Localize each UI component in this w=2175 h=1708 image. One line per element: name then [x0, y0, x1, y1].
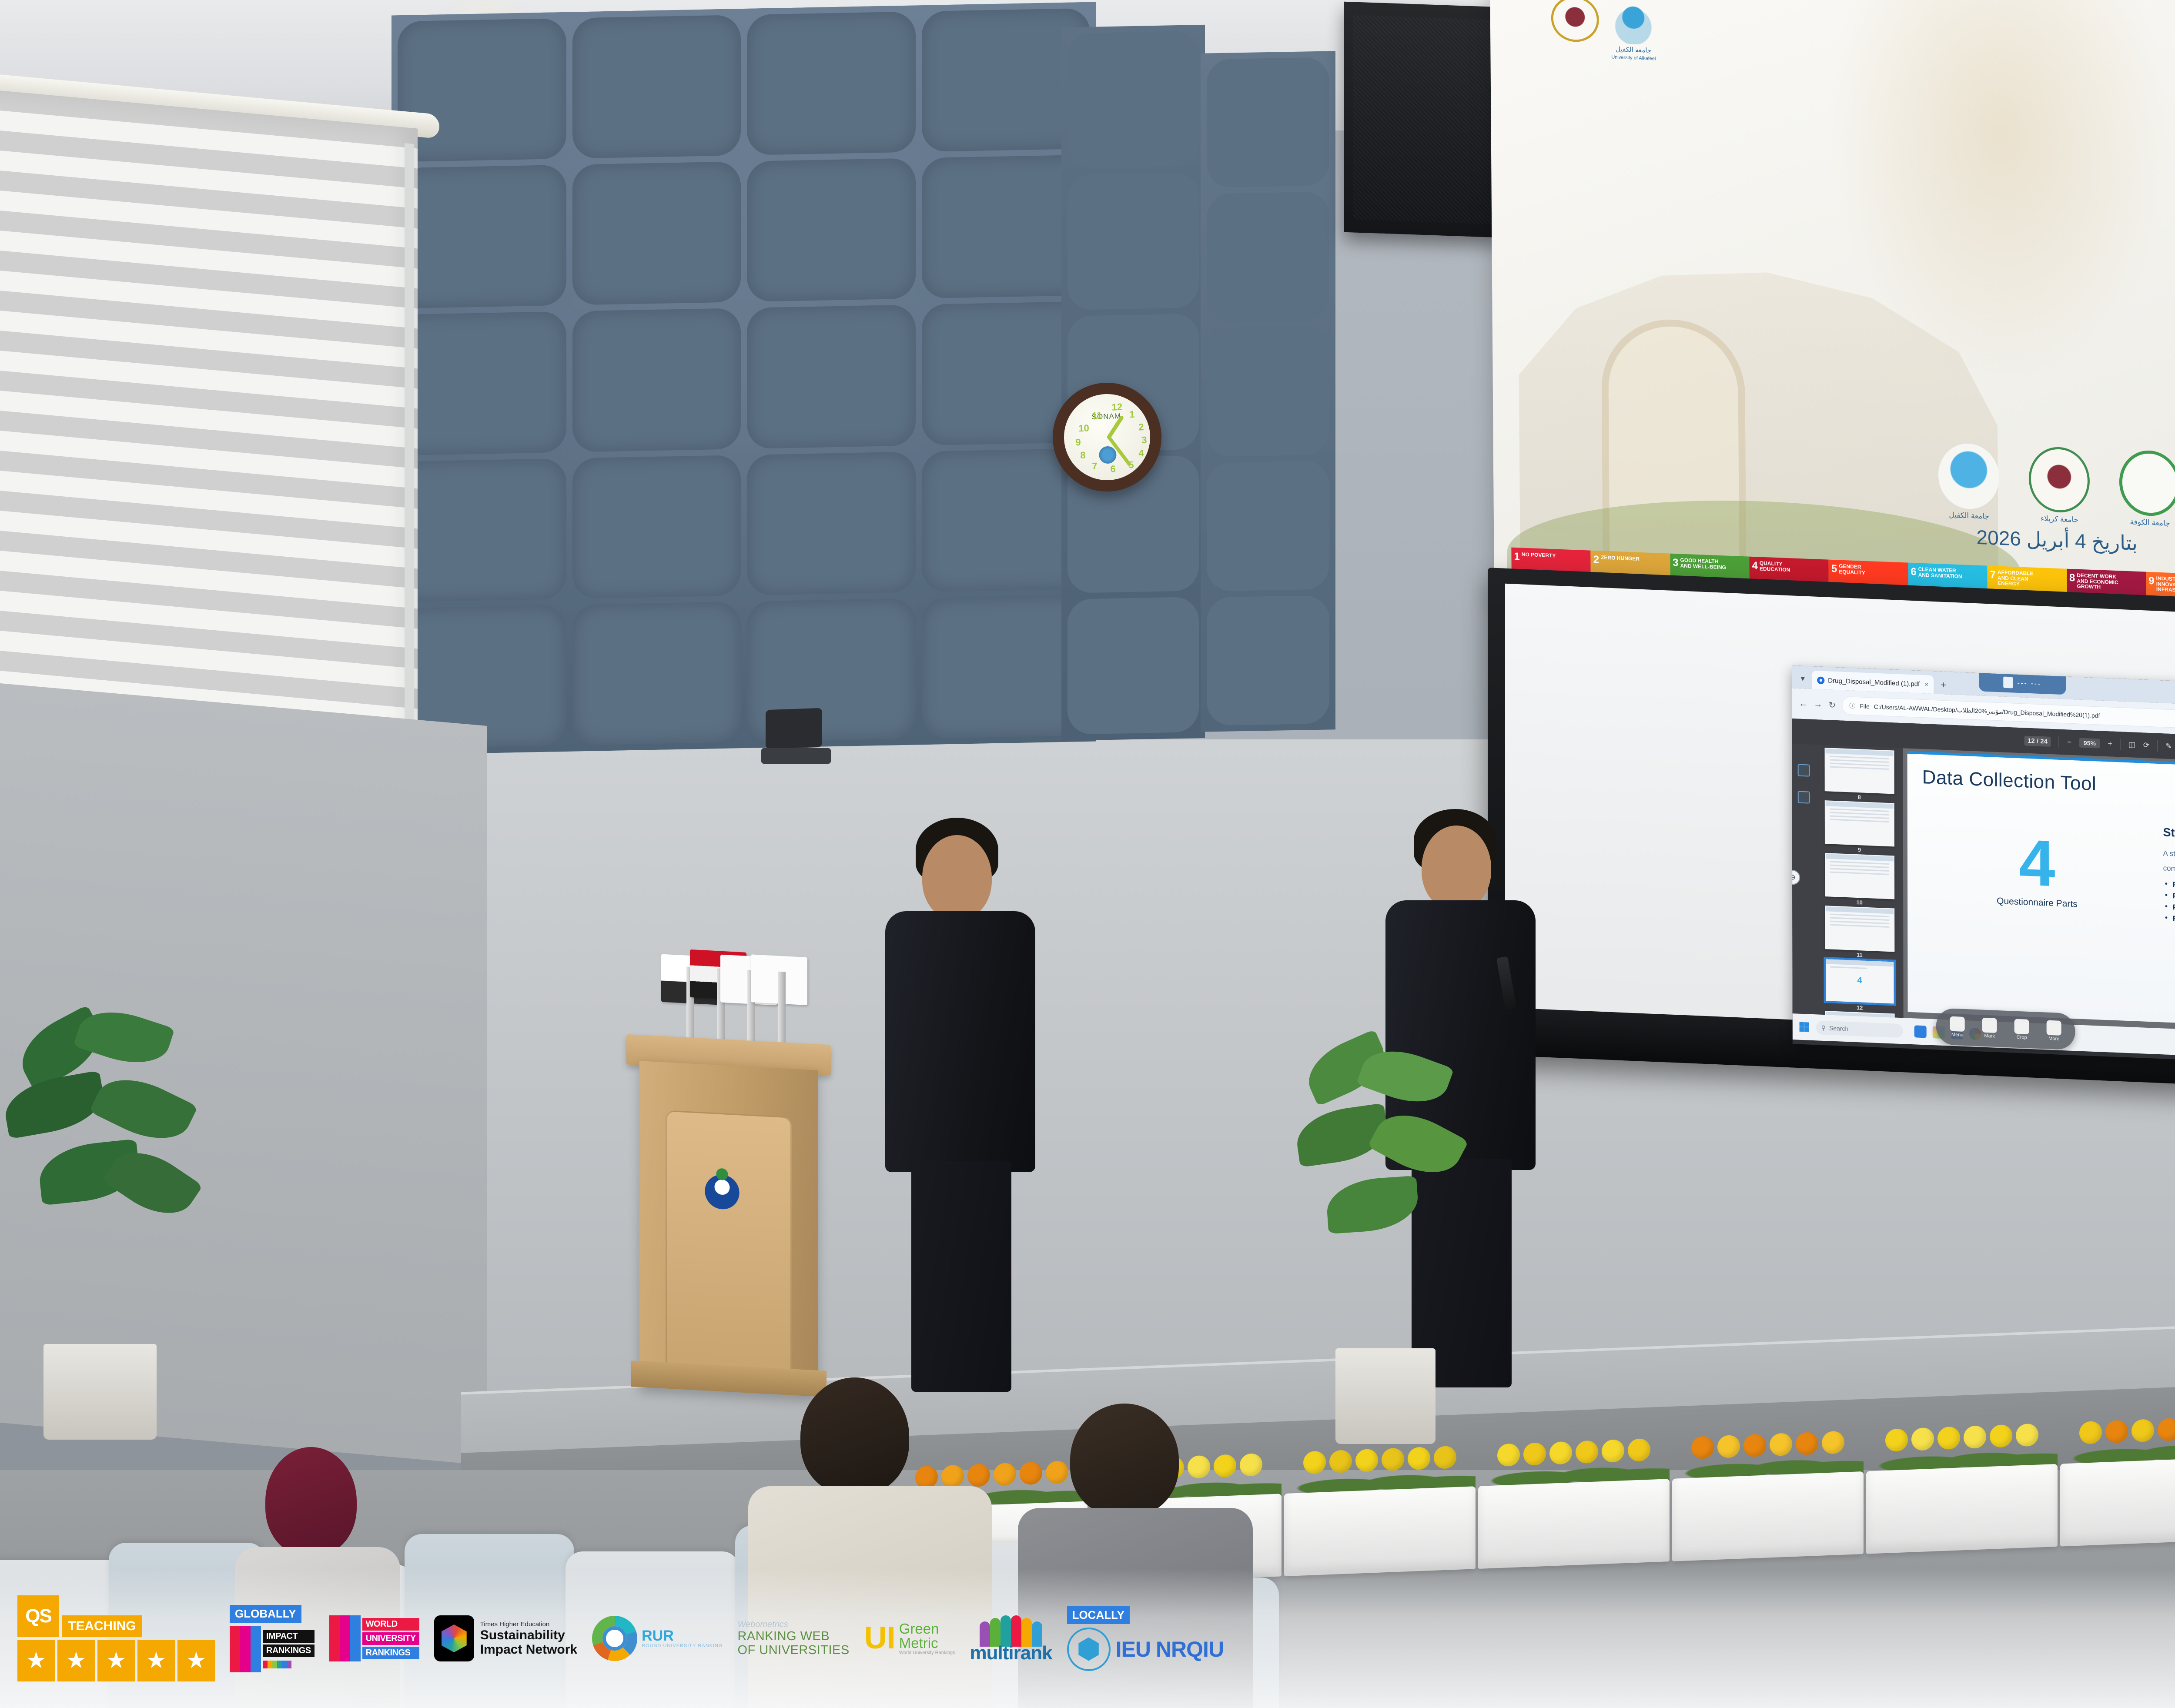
the-wordmark: [230, 1626, 261, 1672]
u-multirank-logo: multirank: [970, 1613, 1052, 1664]
pdf-thumbnail-9[interactable]: 9: [1816, 800, 1903, 856]
ui-wordmark: UI: [864, 1625, 896, 1651]
presenter-head: [1422, 826, 1491, 910]
device-icon: [2004, 677, 2013, 689]
partner-name: جامعة الكوفة: [2117, 517, 2175, 528]
greenmetric-wordmark: Green Metric World University Rankings: [899, 1621, 955, 1656]
windows-start-icon[interactable]: [1800, 1022, 1809, 1032]
qs-star-rating: ★★★★★: [17, 1640, 215, 1681]
slide-stat-column: 4 Questionnaire Parts: [1922, 813, 2152, 925]
search-icon: ⚲: [1821, 1024, 1826, 1031]
pdf-thumbnail-number: 9: [1858, 846, 1861, 853]
pdf-thumbnail-number: 11: [1857, 952, 1863, 959]
float-tool-more[interactable]: More: [2047, 1020, 2061, 1042]
slide-big-number: 4: [1922, 829, 2152, 897]
greenmetric-sub: World University Rankings: [899, 1651, 955, 1655]
rur-sub: ROUND UNIVERSITY RANKING: [642, 1643, 723, 1648]
qs-wordmark: QS: [25, 1605, 51, 1627]
rur-abbr: RUR: [642, 1628, 723, 1643]
the-impact-tags: IMPACT RANKINGS: [263, 1626, 315, 1672]
conference-hall-photo: SONAM 12 1 2 3 4 5 6 7 8 9 10 11: [0, 0, 2175, 1708]
presenter-at-lectern: [866, 818, 1053, 1392]
the-sustainability-impact-network-logo: Times Higher Education Sustainability Im…: [434, 1615, 577, 1661]
pdf-thumbnail-number: 8: [1858, 794, 1861, 800]
annotate-pen-icon[interactable]: ✎: [2165, 742, 2172, 751]
qs-star-icon: ★: [17, 1640, 55, 1681]
pdf-sidebar: 89101141213 ⊖: [1792, 744, 1904, 1018]
slide-columns: 4 Questionnaire Parts Structured Survey …: [1922, 813, 2175, 936]
new-tab-button[interactable]: +: [1936, 679, 1951, 691]
the-rainbow-strip: [263, 1661, 315, 1668]
the-tag: IMPACT: [263, 1630, 315, 1643]
acoustic-panel-column: [1201, 51, 1335, 732]
qs-teaching-label: TEACHING: [62, 1615, 142, 1637]
pdf-thumbnail-number: 10: [1856, 899, 1862, 906]
university-rankings-banner: QS TEACHING ★★★★★ GLOBALLY IMPACT RANKIN…: [0, 1569, 2175, 1708]
tool-icon: [2014, 1019, 2029, 1034]
rotate-icon[interactable]: ⟳: [2143, 741, 2149, 750]
pdf-thumbnail-12[interactable]: 412: [1816, 958, 1903, 1014]
slide-bullet-list: Part 1: Demographics and Information Sou…: [2163, 880, 2175, 933]
toolbar-divider: [2059, 736, 2059, 748]
tool-label: Crop: [2014, 1035, 2029, 1040]
rur-mark-icon: [592, 1616, 637, 1661]
tool-label: Mark: [1982, 1033, 1997, 1039]
ieu-nrqiu-group: LOCALLY IEU NRQIU: [1067, 1606, 1224, 1671]
qs-star-icon: ★: [97, 1640, 135, 1681]
rur-ranking-logo: RUR ROUND UNIVERSITY RANKING: [592, 1616, 723, 1661]
page-indicator[interactable]: 12 / 24: [2024, 735, 2051, 746]
clock-numeral: 1: [1129, 409, 1135, 420]
clock-university-logo: [1099, 446, 1117, 464]
float-tool-mark[interactable]: Mark: [1982, 1018, 1997, 1039]
pdf-thumbnail-image[interactable]: [1824, 748, 1894, 794]
this-wordmark: Times Higher Education Sustainability Im…: [480, 1621, 577, 1657]
alkafeel-logo-sublabel: University of Alkafeel: [1609, 54, 1657, 61]
ieu-wordmark: IEU: [1116, 1637, 1151, 1662]
taskbar-app-store-icon[interactable]: [1914, 1025, 1927, 1038]
window-frame: [405, 143, 414, 762]
locally-tag: LOCALLY: [1067, 1606, 1130, 1624]
lectern-front-panel: [666, 1110, 792, 1377]
close-icon[interactable]: ×: [1925, 681, 1929, 688]
forward-icon[interactable]: →: [1814, 699, 1822, 710]
the-tag: RANKINGS: [263, 1644, 315, 1657]
back-icon[interactable]: ←: [1799, 699, 1807, 709]
acoustic-panel-wall: [391, 2, 1096, 755]
acoustic-panel-grid: [391, 2, 1096, 755]
ceiling-pa-speaker: [1344, 2, 1501, 238]
outline-view-icon[interactable]: [1798, 791, 1810, 804]
pdf-thumbnail-list[interactable]: 89101141213: [1816, 745, 1904, 1018]
annotation-floating-toolbar[interactable]: MenuMarkCropMore: [1936, 1008, 2075, 1050]
pdf-thumbnail-number: 12: [1857, 1004, 1863, 1011]
qs-stars-logo: QS TEACHING ★★★★★: [17, 1595, 215, 1681]
pdf-favicon-icon: [1817, 676, 1824, 684]
clock-numeral: 11: [1092, 410, 1102, 421]
float-tool-crop[interactable]: Crop: [2014, 1019, 2029, 1040]
multirank-wordmark: multirank: [970, 1642, 1052, 1664]
the-impact-rankings-group: GLOBALLY IMPACT RANKINGS: [230, 1605, 315, 1672]
qs-logo-row: QS TEACHING: [17, 1595, 215, 1637]
qs-star-icon: ★: [57, 1640, 95, 1681]
qs-mark: QS: [17, 1595, 59, 1637]
taskbar-search-input[interactable]: ⚲ Search: [1816, 1020, 1903, 1038]
clock-numeral: 6: [1110, 463, 1116, 475]
this-hex-icon: [434, 1615, 474, 1661]
browser-tab-title: Drug_Disposal_Modified (1).pdf: [1828, 677, 1920, 688]
ieu-nrqiu-row: IEU NRQIU: [1067, 1628, 1224, 1671]
tool-icon: [1982, 1018, 1997, 1033]
clock-numeral: 10: [1078, 422, 1089, 434]
reload-icon[interactable]: ↻: [1828, 699, 1836, 711]
ministry-logo: [1551, 0, 1599, 62]
clock-numeral: 8: [1080, 450, 1086, 461]
this-line1: Times Higher Education: [480, 1621, 577, 1628]
tool-icon: [1950, 1016, 1965, 1032]
zoom-in-button[interactable]: +: [2108, 739, 2112, 748]
toolbar-divider: [2120, 739, 2121, 750]
nrqiu-wordmark: NRQIU: [1156, 1637, 1224, 1662]
webometrics-logo: Webometrics RANKING WEB OF UNIVERSITIES: [737, 1620, 849, 1658]
url-text: C:/Users/AL-AWWAL/Desktop/مؤتمر%20الطلاب…: [1874, 703, 2100, 719]
toolbar-divider: [2157, 740, 2158, 752]
clock-face: SONAM 12 1 2 3 4 5 6 7 8 9 10 11: [1063, 393, 1152, 482]
greenmetric-metric: Metric: [899, 1636, 955, 1651]
zoom-level[interactable]: 95%: [2079, 738, 2100, 749]
tool-label: Menu: [1950, 1032, 1965, 1038]
clock-numeral: 4: [1138, 448, 1144, 459]
fit-page-icon[interactable]: ◫: [2128, 740, 2135, 749]
alkafeel-university-logo: جامعة الكفيل University of Alkafeel: [1609, 0, 1657, 65]
slide-title: Data Collection Tool: [1922, 766, 2175, 808]
the-tag: UNIVERSITY: [362, 1632, 419, 1645]
chrome-browser-window[interactable]: ▾ Drug_Disposal_Modified (1).pdf × + ---…: [1792, 665, 2175, 1070]
poster-header-logos: جامعة الكفيل University of Alkafeel: [1551, 0, 1664, 71]
the-world-university-rankings-logo: WORLD UNIVERSITY RANKINGS: [329, 1615, 419, 1661]
chevron-down-icon[interactable]: ▾: [1796, 672, 1809, 685]
clock-numeral: 7: [1092, 461, 1098, 472]
partner-logo-alkafeel: جامعة الكفيل: [1936, 442, 2001, 521]
this-line3: Impact Network: [480, 1642, 577, 1657]
pdf-viewer-body: 89101141213 ⊖ Data Collection Tool 4 Que…: [1792, 744, 2175, 1040]
pdf-page-12: Data Collection Tool 4 Questionnaire Par…: [1907, 751, 2175, 1033]
zoom-out-button[interactable]: −: [2067, 738, 2071, 746]
qs-star-icon: ★: [137, 1640, 175, 1681]
this-line2: Sustainability: [480, 1628, 577, 1642]
alkafeel-emblem: [696, 1164, 748, 1215]
wall-camera-mount: [761, 748, 831, 764]
the-tag: WORLD: [362, 1618, 419, 1631]
ieu-gear-icon: [1067, 1628, 1111, 1671]
greenmetric-green: Green: [899, 1621, 955, 1636]
thumbnails-view-icon[interactable]: [1798, 764, 1810, 777]
clock-numeral: 12: [1111, 401, 1122, 413]
the-impact-rankings-logo: IMPACT RANKINGS: [230, 1626, 315, 1672]
conference-backdrop-banner: جامعة الكفيل University of Alkafeel برعا…: [1490, 0, 2175, 648]
pdf-thumbnail-image[interactable]: [1825, 906, 1894, 952]
webometrics-line1: RANKING WEB: [737, 1630, 849, 1644]
partner-logo-kufa: جامعة الكوفة: [2117, 449, 2175, 528]
info-circle-icon: ⓘ: [1849, 701, 1855, 710]
the-wordmark: [329, 1615, 361, 1661]
pdf-thumbnail-image[interactable]: [1824, 800, 1894, 846]
partner-name: جامعة كربلاء: [2027, 514, 2092, 525]
search-placeholder: Search: [1829, 1024, 1848, 1032]
pdf-page-stage: Data Collection Tool 4 Questionnaire Par…: [1903, 748, 2175, 1040]
webometrics-wordmark: Webometrics: [737, 1620, 849, 1630]
presenter-suit-jacket: [885, 911, 1035, 1172]
float-tool-menu[interactable]: Menu: [1950, 1016, 1965, 1038]
webometrics-line2: OF UNIVERSITIES: [737, 1644, 849, 1658]
potted-plant-left: [4, 1013, 231, 1440]
globally-tag: GLOBALLY: [230, 1605, 301, 1623]
alkafeel-logo-label: جامعة الكفيل: [1609, 45, 1657, 54]
the-tag: RANKINGS: [362, 1647, 419, 1659]
the-world-tags: WORLD UNIVERSITY RANKINGS: [362, 1615, 419, 1661]
url-scheme-label: File: [1860, 702, 1870, 710]
wall-camera: [766, 708, 822, 749]
window-blind: [0, 89, 418, 772]
slide-bullet-item: Part 4: Intentions and Current Disposal …: [2163, 914, 2175, 933]
clock-numeral: 2: [1138, 421, 1144, 433]
qs-star-icon: ★: [177, 1640, 215, 1681]
presenter-head: [922, 835, 992, 920]
pdf-thumbnail-image[interactable]: 4: [1825, 958, 1894, 1004]
partner-logo-karbala: جامعة كربلاء: [2026, 446, 2092, 525]
pdf-thumbnail-8[interactable]: 8: [1816, 747, 1903, 803]
pdf-thumbnail-image[interactable]: [1824, 853, 1894, 899]
clock-numeral: 3: [1141, 435, 1147, 446]
pdf-thumbnail-10[interactable]: 10: [1816, 852, 1903, 909]
acoustic-panel-column: [1061, 25, 1205, 741]
ui-greenmetric-logo: UI Green Metric World University Ranking…: [864, 1621, 955, 1656]
tool-label: More: [2047, 1036, 2061, 1042]
slide-text-column: Structured Survey Instrument A structure…: [2163, 823, 2175, 936]
banner-content: QS TEACHING ★★★★★ GLOBALLY IMPACT RANKIN…: [17, 1595, 2175, 1681]
pdf-thumbnail-11[interactable]: 11: [1816, 905, 1903, 961]
tool-icon: [2047, 1020, 2061, 1036]
multirank-arcs-icon: [980, 1613, 1042, 1647]
clock-numeral: 9: [1075, 437, 1081, 448]
rur-wordmark: RUR ROUND UNIVERSITY RANKING: [642, 1628, 723, 1648]
overflow-dots-icon: --- ---: [2018, 679, 2041, 687]
